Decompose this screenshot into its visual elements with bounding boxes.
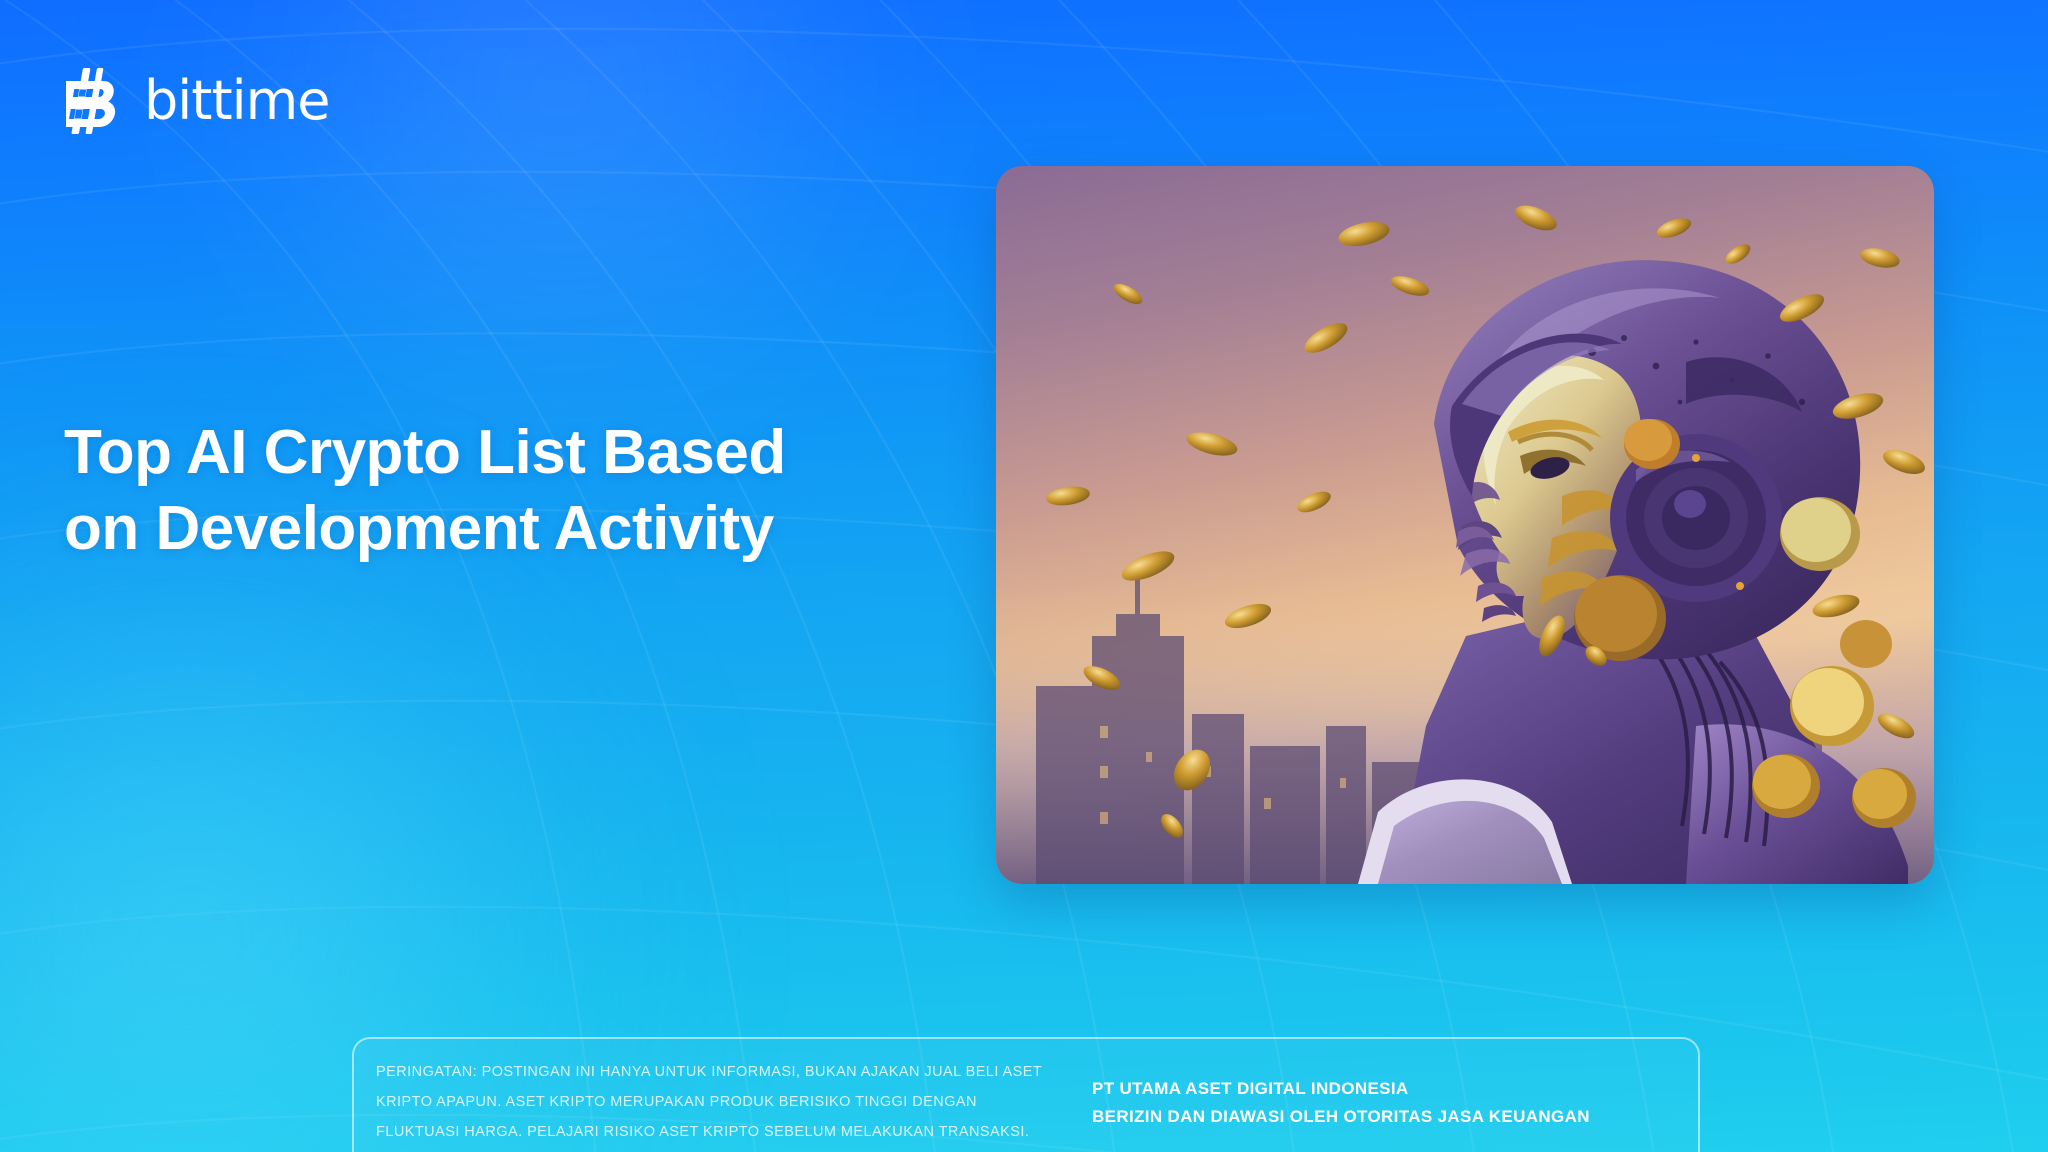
disclaimer-bar: PERINGATAN: POSTINGAN INI HANYA UNTUK IN… <box>352 1037 1700 1152</box>
bittime-wordmark: bittime <box>144 74 329 128</box>
license-line-1: PT UTAMA ASET DIGITAL INDONESIA <box>1092 1075 1590 1103</box>
hero-image <box>996 166 1934 884</box>
risk-warning-line-3: FLUKTUASI HARGA. PELAJARI RISIKO ASET KR… <box>376 1124 1029 1140</box>
page-title: Top AI Crypto List Based on Development … <box>64 415 844 566</box>
bittime-logo[interactable]: bittime <box>66 68 329 134</box>
bittime-b-logo-icon <box>66 68 124 134</box>
ai-robot-illustration <box>996 166 1934 884</box>
headline-line-1: Top AI Crypto List Based <box>64 418 786 487</box>
license-line-2: BERIZIN DAN DIAWASI OLEH OTORITAS JASA K… <box>1092 1103 1590 1131</box>
license-text: PT UTAMA ASET DIGITAL INDONESIA BERIZIN … <box>1092 1075 1590 1130</box>
risk-warning-text: PERINGATAN: POSTINGAN INI HANYA UNTUK IN… <box>376 1058 1056 1147</box>
banner-canvas: bittime Top AI Crypto List Based on Deve… <box>0 0 2048 1152</box>
headline-line-2: on Development Activity <box>64 491 844 567</box>
risk-warning-line-1: PERINGATAN: POSTINGAN INI HANYA UNTUK IN… <box>376 1064 999 1080</box>
